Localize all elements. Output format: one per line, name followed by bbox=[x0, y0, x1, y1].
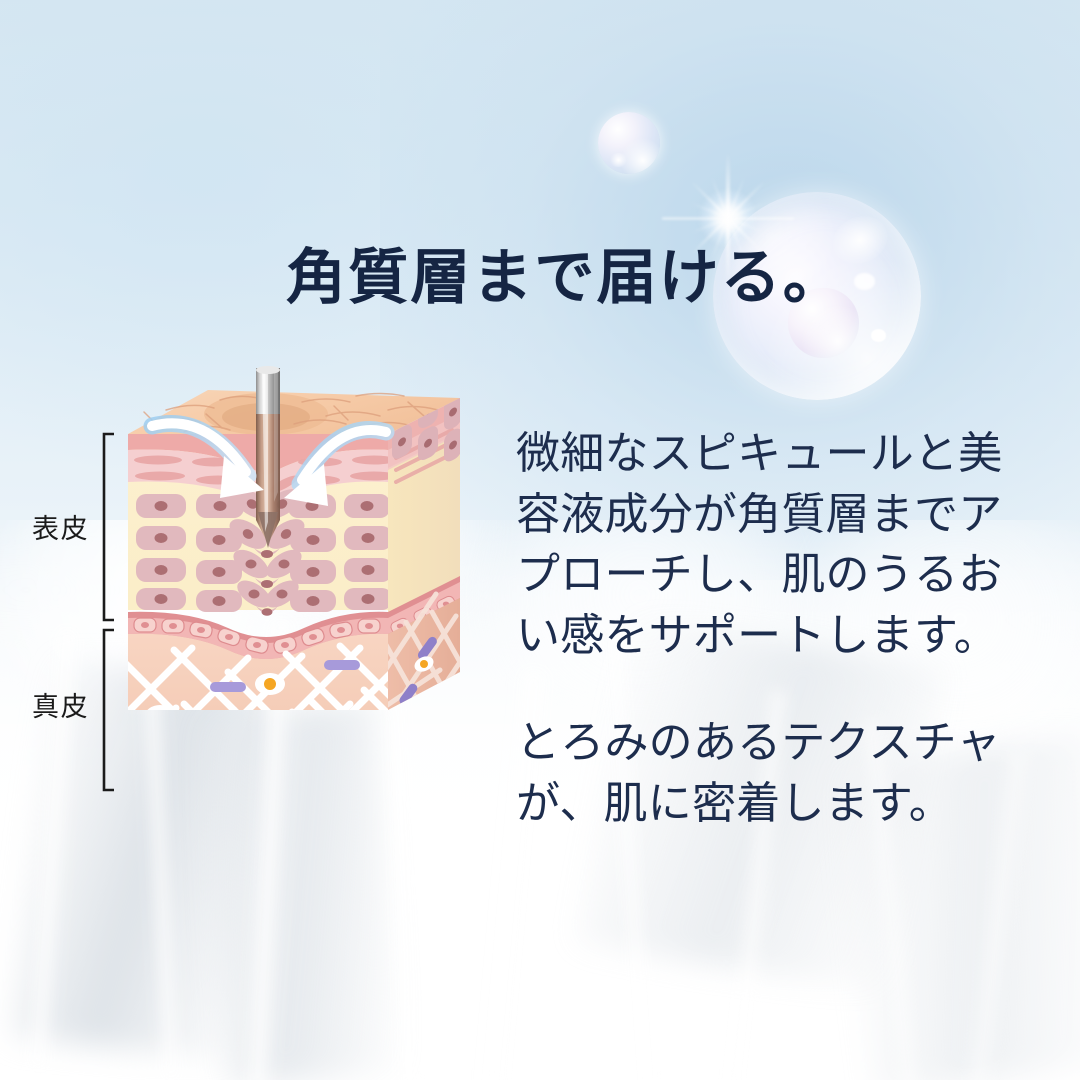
bubble-highlight-small bbox=[871, 329, 886, 341]
dermis-label: 真皮 bbox=[32, 692, 89, 722]
body-copy-block: 微細なスピキュールと美容液成分が角質層までアプローチし、肌のうるおい感をサポート… bbox=[516, 424, 1016, 834]
epidermis-bracket bbox=[104, 434, 114, 620]
body-paragraph-2: とろみのあるテクスチャが、肌に密着します。 bbox=[516, 713, 1016, 834]
body-paragraph-1: 微細なスピキュールと美容液成分が角質層までアプローチし、肌のうるおい感をサポート… bbox=[516, 424, 1016, 667]
page-headline: 角質層まで届ける。 bbox=[286, 248, 845, 308]
dermis-bracket bbox=[104, 630, 114, 790]
poster-stage: 角質層まで届ける。 微細なスピキュールと美容液成分が角質層までアプローチし、肌の… bbox=[0, 0, 1080, 1080]
skin-side-face bbox=[388, 318, 462, 640]
small-water-bubble bbox=[598, 112, 660, 174]
bubble-highlight-mid bbox=[854, 273, 875, 290]
spicule-needle-icon bbox=[256, 366, 280, 548]
skin-cross-section-diagram: 表皮 真皮 bbox=[88, 372, 528, 802]
epidermis-label: 表皮 bbox=[32, 514, 89, 544]
